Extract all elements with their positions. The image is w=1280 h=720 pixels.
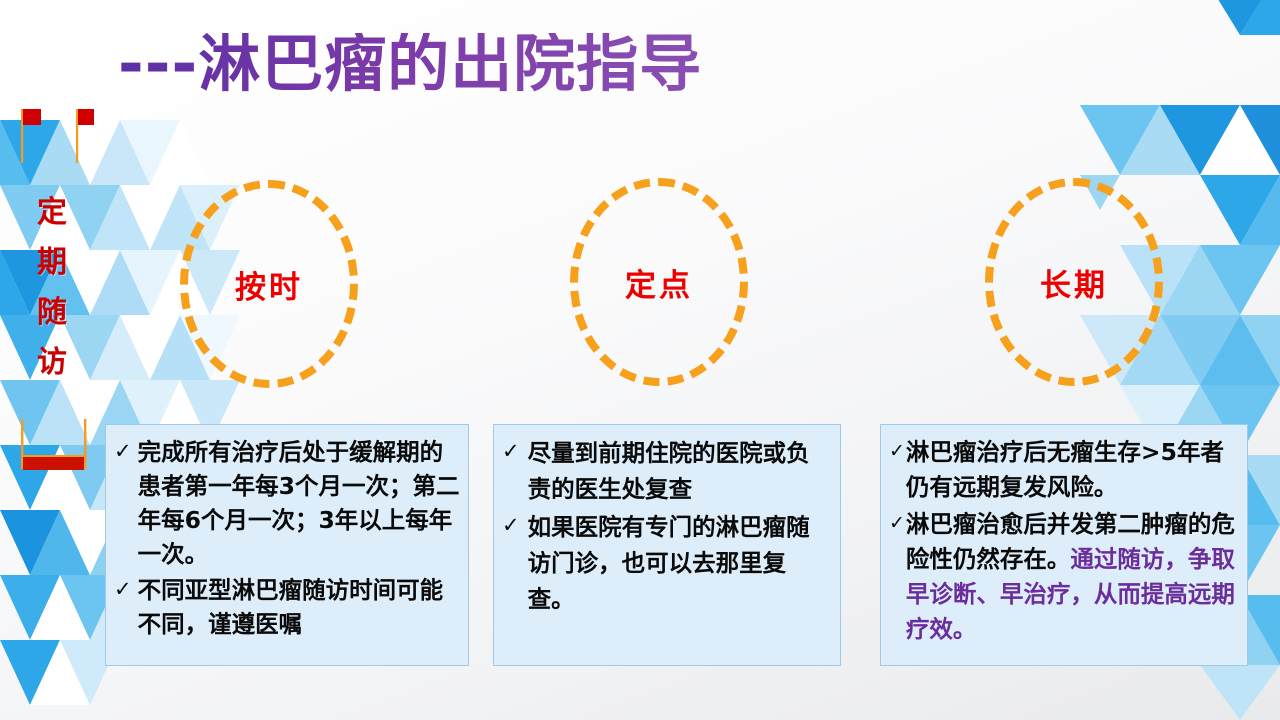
u-bracket-icon [12,415,96,477]
side-label-char-2: 期 [24,238,80,288]
list-item: ✓ 如果医院有专门的淋巴瘤随访门诊，也可以去那里复查。 [502,509,832,617]
check-icon: ✓ [502,509,528,542]
list-item-text-mixed: 淋巴瘤治愈后并发第二肿瘤的危险性仍然存在。通过随访，争取早诊断、早治疗，从而提高… [906,507,1239,647]
quote-flag-icon [12,105,96,167]
circle-label-on-time: 按时 [235,262,303,307]
side-vertical-label: 定 期 随 访 [24,188,80,388]
circle-fixed-location: 定点 [570,178,748,386]
side-label-char-3: 随 [24,288,80,338]
check-icon: ✓ [502,435,528,468]
page-title: ---淋巴瘤的出院指导 [118,33,702,95]
circle-label-fixed-location: 定点 [625,260,693,305]
side-label-char-4: 访 [24,338,80,388]
bracket-bottom-decoration [12,415,96,477]
list-item: ✓ 淋巴瘤治愈后并发第二肿瘤的危险性仍然存在。通过随访，争取早诊断、早治疗，从而… [889,507,1239,647]
text-box-duration: ✓ 淋巴瘤治疗后无瘤生存>5年者仍有远期复发风险。 ✓ 淋巴瘤治愈后并发第二肿瘤… [880,424,1248,666]
check-icon: ✓ [114,435,138,468]
list-item-text: 淋巴瘤治疗后无瘤生存>5年者仍有远期复发风险。 [906,435,1239,505]
list-item: ✓ 完成所有治疗后处于缓解期的患者第一年每3个月一次；第二年每6个月一次；3年以… [114,435,460,571]
slide-canvas: ---淋巴瘤的出院指导 定 期 随 访 按时 定点 长期 [0,0,1280,720]
check-icon: ✓ [889,435,906,468]
circle-long-term: 长期 [985,178,1163,386]
list-item: ✓ 不同亚型淋巴瘤随访时间可能不同，谨遵医嘱 [114,573,460,641]
check-icon: ✓ [114,573,138,606]
bracket-top-decoration [12,105,96,167]
check-icon: ✓ [889,507,906,540]
list-item-text: 不同亚型淋巴瘤随访时间可能不同，谨遵医嘱 [138,573,460,641]
list-item: ✓ 尽量到前期住院的医院或负责的医生处复查 [502,435,832,507]
list-item-text: 完成所有治疗后处于缓解期的患者第一年每3个月一次；第二年每6个月一次；3年以上每… [138,435,460,571]
circle-label-long-term: 长期 [1040,260,1108,305]
circle-on-time: 按时 [180,180,358,388]
side-label-char-1: 定 [24,188,80,238]
text-box-schedule: ✓ 完成所有治疗后处于缓解期的患者第一年每3个月一次；第二年每6个月一次；3年以… [105,424,469,666]
text-box-location: ✓ 尽量到前期住院的医院或负责的医生处复查 ✓ 如果医院有专门的淋巴瘤随访门诊，… [493,424,841,666]
list-item: ✓ 淋巴瘤治疗后无瘤生存>5年者仍有远期复发风险。 [889,435,1239,505]
list-item-text: 如果医院有专门的淋巴瘤随访门诊，也可以去那里复查。 [528,509,832,617]
list-item-text: 尽量到前期住院的医院或负责的医生处复查 [528,435,832,507]
